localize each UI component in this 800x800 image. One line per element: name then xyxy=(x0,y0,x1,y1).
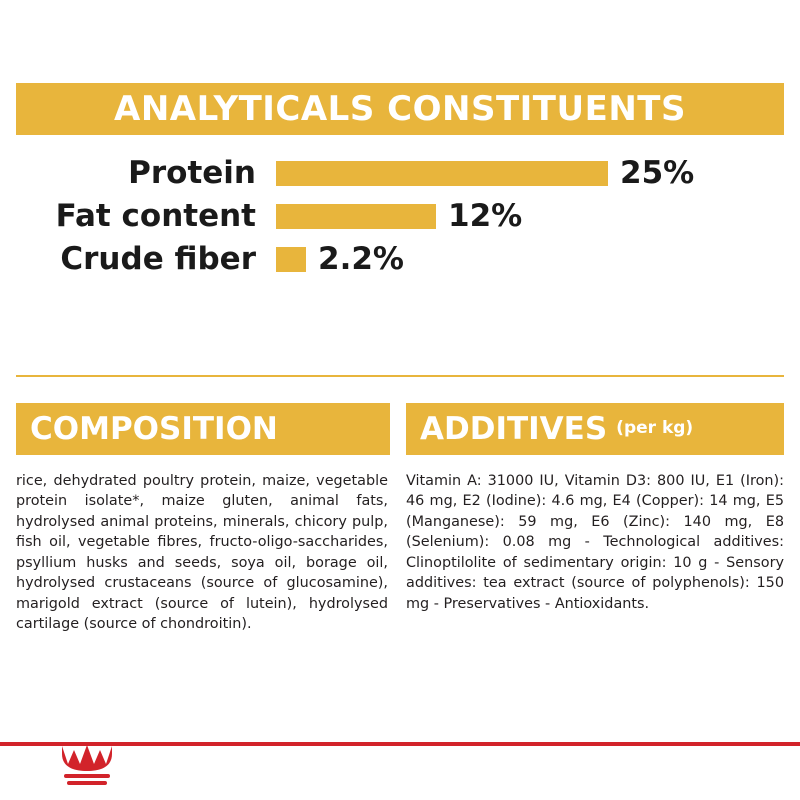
footer-rule xyxy=(0,742,800,746)
composition-title: COMPOSITION xyxy=(30,414,278,445)
additives-panel: ADDITIVES (per kg) Vitamin A: 31000 IU, … xyxy=(406,403,784,614)
nutrient-label: Fat content xyxy=(16,201,276,232)
composition-text: rice, dehydrated poultry protein, maize,… xyxy=(16,471,388,635)
nutrient-bar xyxy=(276,247,306,272)
nutrient-bar xyxy=(276,161,608,186)
nutrient-bar-chart: Protein 25% Fat content 12% Crude fiber … xyxy=(16,152,784,281)
analyticals-title: ANALYTICALS CONSTITUENTS xyxy=(114,92,686,126)
nutrition-panel: ANALYTICALS CONSTITUENTS Protein 25% Fat… xyxy=(0,0,800,800)
nutrient-value: 2.2% xyxy=(306,244,404,275)
additives-subtitle: (per kg) xyxy=(616,420,693,438)
additives-header: ADDITIVES (per kg) xyxy=(406,403,784,455)
section-divider xyxy=(16,375,784,377)
nutrient-row: Protein 25% xyxy=(16,152,784,195)
nutrient-value: 25% xyxy=(608,158,694,189)
nutrient-row: Fat content 12% xyxy=(16,195,784,238)
nutrient-bar xyxy=(276,204,436,229)
nutrient-label: Protein xyxy=(16,158,276,189)
nutrient-value: 12% xyxy=(436,201,522,232)
composition-panel: COMPOSITION rice, dehydrated poultry pro… xyxy=(16,403,390,635)
nutrient-row: Crude fiber 2.2% xyxy=(16,238,784,281)
additives-text: Vitamin A: 31000 IU, Vitamin D3: 800 IU,… xyxy=(406,471,784,614)
composition-header: COMPOSITION xyxy=(16,403,390,455)
analyticals-banner: ANALYTICALS CONSTITUENTS xyxy=(16,83,784,135)
additives-title: ADDITIVES xyxy=(420,414,607,445)
royal-canin-crown-icon xyxy=(58,744,116,788)
nutrient-label: Crude fiber xyxy=(16,244,276,275)
